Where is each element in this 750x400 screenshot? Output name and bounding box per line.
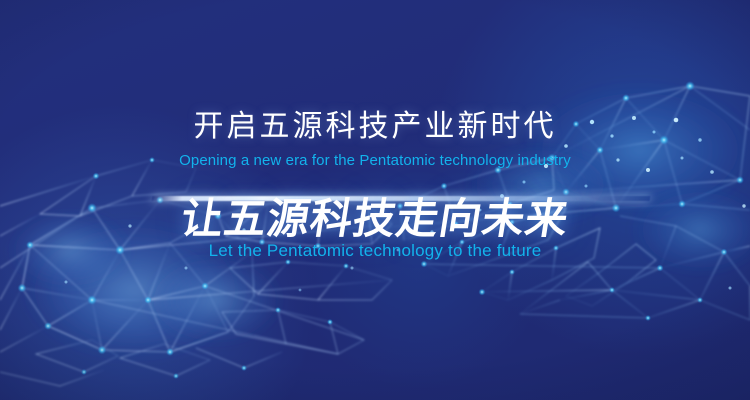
headline-chinese-feature: 让五源科技走向未来 bbox=[0, 196, 750, 242]
headline-chinese-primary: 开启五源科技产业新时代 bbox=[0, 112, 750, 142]
hero-banner: 开启五源科技产业新时代 Opening a new era for the Pe… bbox=[0, 0, 750, 400]
banner-content: 开启五源科技产业新时代 Opening a new era for the Pe… bbox=[0, 0, 750, 400]
headline-big-group: 让五源科技走向未来 bbox=[0, 196, 750, 244]
subtitle-english-primary: Opening a new era for the Pentatomic tec… bbox=[0, 152, 750, 171]
subtitle-english-secondary: Let the Pentatomic technology to the fut… bbox=[0, 240, 750, 261]
